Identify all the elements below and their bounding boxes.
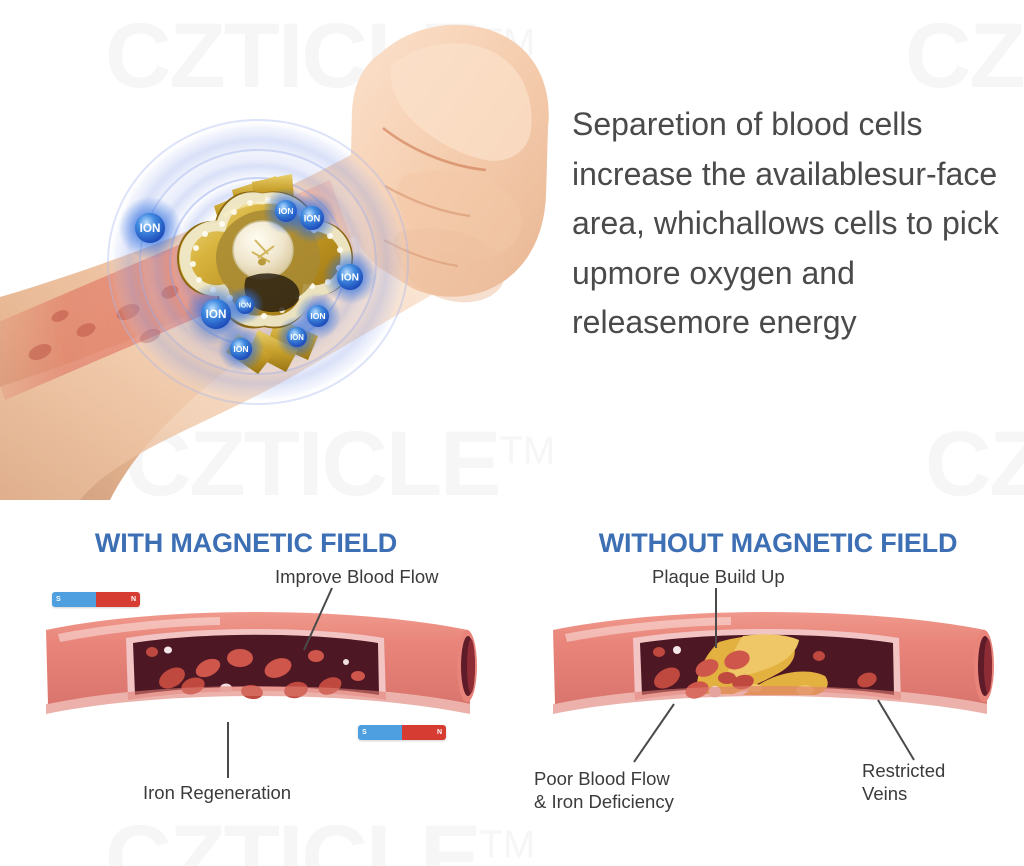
callout-poor-blood-flow: Poor Blood Flow & Iron Deficiency (534, 768, 674, 813)
callout-improve-blood-flow: Improve Blood Flow (275, 566, 438, 589)
ion-bubble-label: ION (304, 213, 321, 223)
callout-iron-regeneration: Iron Regeneration (143, 782, 291, 805)
hero-arm-illustration: IONIONIONIONIONIONIONIONION (0, 0, 572, 500)
callout-plaque-build-up: Plaque Build Up (652, 566, 785, 589)
ion-bubble: ION (218, 326, 264, 372)
ion-bubble: ION (119, 197, 182, 260)
infographic-canvas: CZTICLETM CZTICLETM CZTICLETM CZTICLETM … (0, 0, 1024, 866)
callout-restricted-veins: Restricted Veins (862, 760, 945, 805)
ion-bubble-label: ION (239, 303, 251, 310)
ion-bubble: ION (287, 193, 337, 243)
ion-bubble-label: ION (140, 222, 161, 235)
arm-graphic: IONIONIONIONIONIONIONIONION (0, 0, 572, 500)
ion-bubble-label: ION (310, 311, 325, 321)
panel-with-magnetic-field: WITH MAGNETIC FIELD S N S N (0, 520, 512, 866)
watermark-top-right: CZTICLETM (905, 10, 1024, 102)
ion-bubble-label: ION (206, 308, 227, 321)
ion-bubble-label: ION (233, 344, 248, 354)
ion-bubble: ION (226, 286, 264, 324)
headline-paragraph: Separetion of blood cells increase the a… (572, 100, 1004, 348)
watermark-mid-right: CZTICLETM (925, 418, 1024, 510)
ion-bubble-label: ION (290, 333, 304, 342)
ion-bubble-label: ION (341, 273, 359, 284)
ion-bubble: ION (276, 316, 318, 358)
panel-without-magnetic-field: WITHOUT MAGNETIC FIELD (512, 520, 1024, 866)
ion-bubble: ION (323, 250, 378, 305)
